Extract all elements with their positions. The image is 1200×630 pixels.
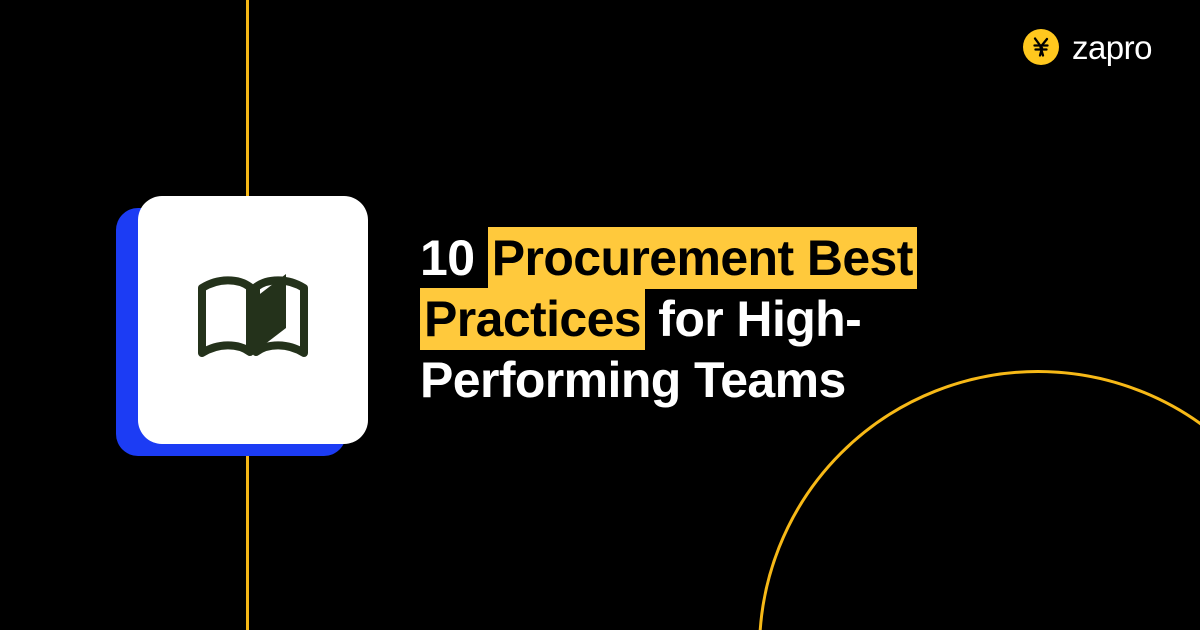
headline-line-2: Practices for High- — [420, 289, 1040, 350]
headline-line-2-tail: for High- — [645, 291, 861, 347]
open-book-icon — [198, 272, 308, 368]
headline-count: 10 — [420, 230, 488, 286]
brand-logo[interactable]: zapro — [1023, 29, 1152, 65]
headline-line-3-text: Performing Teams — [420, 352, 846, 408]
white-icon-card — [138, 196, 368, 444]
headline-line-1: 10 Procurement Best — [420, 228, 1040, 289]
social-card-canvas: zapro 10 Procurement Best Practices for … — [0, 0, 1200, 630]
headline-line-3: Performing Teams — [420, 350, 1040, 411]
page-title: 10 Procurement Best Practices for High- … — [420, 228, 1040, 411]
headline-highlight-2: Practices — [420, 288, 645, 350]
zapro-monogram-icon — [1023, 29, 1059, 65]
brand-wordmark: zapro — [1072, 31, 1152, 64]
headline-highlight-1: Procurement Best — [488, 227, 917, 289]
hero-icon-cluster — [116, 196, 368, 456]
